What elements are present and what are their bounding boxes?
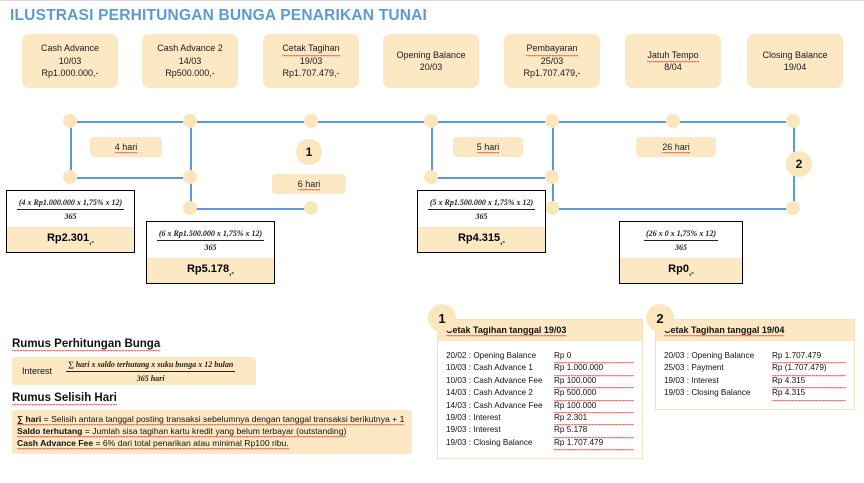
statement-row: 14/03 : Cash Advance 2Rp 500.000 xyxy=(446,387,634,399)
statement-row: 20/02 : Opening BalanceRp 0 xyxy=(446,350,634,362)
calculation-box-1: (4 x Rp1.000.000 x 1,75% x 12) 365 Rp2.3… xyxy=(6,190,135,253)
statement-heading-1: Cetak Tagihan tanggal 19/03 xyxy=(438,320,642,341)
timeline-badge-1: 1 xyxy=(296,139,322,165)
statement-row-value: Rp 100.000 xyxy=(554,375,634,387)
calculation-numerator-4: (26 x 0 x 1,75% x 12) xyxy=(644,228,718,241)
event-card-date-1: 10/03 xyxy=(59,55,82,68)
formula-note-term-3: Cash Advance Fee xyxy=(17,438,93,448)
timeline-dot-c7-top xyxy=(786,114,800,128)
event-card-name-2: Cash Advance 2 xyxy=(157,42,223,55)
statement-row-label: 19/03 : Closing Balance xyxy=(664,387,772,399)
event-card-amount-2: Rp500.000,- xyxy=(165,67,215,80)
calculation-numerator-2: (6 x Rp1.500.000 x 1,75% x 12) xyxy=(157,228,264,241)
statement-row: 19/03 : InterestRp 5.178 xyxy=(446,424,634,436)
calculation-result-value-2: Rp5.178 xyxy=(187,263,229,275)
statement-row: 25/03 : PaymentRp (1.707.479) xyxy=(664,362,846,374)
formula-note-text-1: = Selisih antara tanggal posting transak… xyxy=(41,414,404,424)
duration-pill-3: 5 hari xyxy=(453,137,523,157)
timeline-span-4hari xyxy=(70,177,190,179)
calculation-result-4: Rp0,- xyxy=(620,258,742,283)
statement-row-label: 10/03 : Cash Advance 1 xyxy=(446,362,554,374)
event-card-name-1: Cash Advance xyxy=(41,42,99,55)
formula-note-term-1: ∑ hari xyxy=(17,414,41,424)
calculation-box-2: (6 x Rp1.500.000 x 1,75% x 12) 365 Rp5.1… xyxy=(146,221,275,284)
statement-row-label: 10/03 : Cash Advance Fee xyxy=(446,375,554,387)
duration-pill-label-3: 5 hari xyxy=(477,142,500,152)
statement-row-label: 14/03 : Cash Advance Fee xyxy=(446,400,554,412)
statement-row: 20/03 : Opening BalanceRp 1.707.479 xyxy=(664,350,846,362)
event-card-date-7: 19/04 xyxy=(784,61,807,74)
duration-pill-2: 6 hari xyxy=(272,174,346,194)
event-card-1: Cash Advance10/03Rp1.000.000,- xyxy=(22,34,118,88)
event-card-name-4: Opening Balance xyxy=(396,49,465,62)
statement-row-label: 14/03 : Cash Advance 2 xyxy=(446,387,554,399)
event-card-date-2: 14/03 xyxy=(179,55,202,68)
statement-row: 10/03 : Cash Advance 1Rp 1.000.000 xyxy=(446,362,634,374)
timeline-dot-c6-top xyxy=(666,114,680,128)
timeline-span-26hari xyxy=(552,208,793,210)
timeline-drop-c2 xyxy=(190,121,192,208)
duration-pill-label-4: 26 hari xyxy=(662,142,690,152)
statement-row-value: Rp 4.315 xyxy=(772,387,846,399)
timeline-dot-c7-low xyxy=(786,201,800,215)
event-card-7: Closing Balance19/04 xyxy=(747,34,843,88)
formula-note-term-2: Saldo terhutang xyxy=(17,426,82,436)
timeline-dot-c1-mid xyxy=(63,170,77,184)
days-formula-heading-text: Rumus Selisih Hari xyxy=(12,392,117,404)
formula-note-3: Cash Advance Fee = 6% dari total penarik… xyxy=(17,437,407,449)
statement-row-label: 25/03 : Payment xyxy=(664,362,772,374)
calculation-result-value-4: Rp0 xyxy=(668,263,689,275)
event-card-name-6: Jatuh Tempo xyxy=(647,49,698,62)
timeline-span-6hari xyxy=(190,208,311,210)
event-card-name-3: Cetak Tagihan xyxy=(282,42,339,55)
event-card-amount-5: Rp1.707.479,- xyxy=(523,67,580,80)
timeline-dot-c4-mid xyxy=(424,170,438,184)
calculation-fraction-1: (4 x Rp1.000.000 x 1,75% x 12) 365 xyxy=(7,191,134,227)
statement-badge-1: 1 xyxy=(428,304,456,332)
timeline-dot-c5-top xyxy=(545,114,559,128)
timeline-badge-2: 2 xyxy=(786,151,812,177)
statement-row-value: Rp 0 xyxy=(554,350,634,362)
statement-row-value: Rp 1.000.000 xyxy=(554,362,634,374)
duration-pill-1: 4 hari xyxy=(90,137,162,157)
timeline-dot-c5-mid xyxy=(545,170,559,184)
event-card-2: Cash Advance 214/03Rp500.000,- xyxy=(142,34,238,88)
timeline-dot-c2-mid xyxy=(183,170,197,184)
calculation-fraction-2: (6 x Rp1.500.000 x 1,75% x 12) 365 xyxy=(147,222,274,258)
event-card-5: Pembayaran25/03Rp1.707.479,- xyxy=(504,34,600,88)
timeline-drop-c4 xyxy=(431,121,433,177)
calculation-result-suffix-1: ,- xyxy=(89,237,94,246)
timeline-span-5hari xyxy=(431,177,552,179)
calculation-box-4: (26 x 0 x 1,75% x 12) 365 Rp0,- xyxy=(619,221,743,284)
timeline-drop-c5 xyxy=(552,121,554,208)
interest-formula-heading-text: Rumus Perhitungan Bunga xyxy=(12,338,160,350)
timeline-dot-c3-low xyxy=(304,201,318,215)
statement-row: 19/03 : Closing BalanceRp 4.315 xyxy=(664,387,846,399)
statement-heading-2: Cetak Tagihan tanggal 19/04 xyxy=(656,320,854,341)
formula-note-text-2: = Jumlah sisa tagihan kartu kredit yang … xyxy=(82,426,346,436)
timeline-drop-c1 xyxy=(70,121,72,177)
statement-row-value: Rp (1.707.479) xyxy=(772,362,846,374)
formula-note-2: Saldo terhutang = Jumlah sisa tagihan ka… xyxy=(17,425,407,437)
duration-pill-label-1: 4 hari xyxy=(115,142,138,152)
interest-numerator: ∑ hari x saldo terhutang x suku bunga x … xyxy=(66,359,235,372)
statement-heading-text-2: Cetak Tagihan tanggal 19/04 xyxy=(664,325,784,335)
statement-row-label: 19/03 : Closing Balance xyxy=(446,437,554,449)
event-card-name-5: Pembayaran xyxy=(526,42,577,55)
calculation-result-suffix-2: ,- xyxy=(229,268,234,277)
event-card-4: Opening Balance20/03 xyxy=(383,34,479,88)
statement-row-value: Rp 1.707.479 xyxy=(772,350,846,362)
calculation-box-3: (5 x Rp1.500.000 x 1,75% x 12) 365 Rp4.3… xyxy=(417,190,546,253)
interest-label: Interest xyxy=(22,366,52,376)
calculation-result-value-1: Rp2.301 xyxy=(47,232,89,244)
timeline-dot-c2-top xyxy=(183,114,197,128)
event-card-date-4: 20/03 xyxy=(420,61,443,74)
duration-pill-4: 26 hari xyxy=(636,137,716,157)
slide-canvas: ILUSTRASI PERHITUNGAN BUNGA PENARIKAN TU… xyxy=(0,0,864,483)
formula-note-1: ∑ hari = Selisih antara tanggal posting … xyxy=(17,413,407,425)
event-card-amount-1: Rp1.000.000,- xyxy=(41,67,98,80)
statement-row-value: Rp 500.000 xyxy=(554,387,634,399)
event-card-name-7: Closing Balance xyxy=(762,49,827,62)
formula-notes-band: ∑ hari = Selisih antara tanggal posting … xyxy=(12,410,412,454)
timeline-dot-c2-low xyxy=(183,201,197,215)
statement-row: 19/03 : InterestRp 4.315 xyxy=(664,375,846,387)
statement-row: 19/03 : InterestRp 2.301 xyxy=(446,412,634,424)
statement-row: 19/03 : Closing BalanceRp 1.707.479 xyxy=(446,437,634,449)
interest-formula-heading: Rumus Perhitungan Bunga xyxy=(12,338,160,350)
calculation-denominator-2: 365 xyxy=(152,242,269,253)
statement-row-value: Rp 4.315 xyxy=(772,375,846,387)
calculation-denominator-1: 365 xyxy=(12,211,129,222)
statement-heading-text-1: Cetak Tagihan tanggal 19/03 xyxy=(446,325,566,335)
calculation-result-2: Rp5.178,- xyxy=(147,258,274,283)
timeline-dot-c3-top xyxy=(304,114,318,128)
calculation-result-3: Rp4.315,- xyxy=(418,227,545,252)
calculation-result-suffix-4: ,- xyxy=(689,268,694,277)
statement-row: 14/03 : Cash Advance FeeRp 100.000 xyxy=(446,400,634,412)
event-card-3: Cetak Tagihan19/03Rp1.707.479,- xyxy=(263,34,359,88)
timeline-dot-c5-low xyxy=(545,201,559,215)
statement-row: 10/03 : Cash Advance FeeRp 100.000 xyxy=(446,375,634,387)
statement-row-label: 19/03 : Interest xyxy=(446,424,554,436)
statement-box-2: Cetak Tagihan tanggal 19/0420/03 : Openi… xyxy=(655,319,855,410)
interest-fraction: ∑ hari x saldo terhutang x suku bunga x … xyxy=(66,359,235,384)
statement-row-label: 20/02 : Opening Balance xyxy=(446,350,554,362)
statement-rows-1: 20/02 : Opening BalanceRp 010/03 : Cash … xyxy=(438,341,642,458)
statement-row-value: Rp 100.000 xyxy=(554,400,634,412)
statement-row-label: 20/03 : Opening Balance xyxy=(664,350,772,362)
statement-row-value: Rp 5.178 xyxy=(554,424,634,436)
duration-pill-label-2: 6 hari xyxy=(298,179,321,189)
days-formula-heading: Rumus Selisih Hari xyxy=(12,392,117,404)
calculation-numerator-1: (4 x Rp1.000.000 x 1,75% x 12) xyxy=(17,197,124,210)
calculation-denominator-4: 365 xyxy=(625,242,737,253)
timeline-dot-c1-top xyxy=(63,114,77,128)
calculation-numerator-3: (5 x Rp1.500.000 x 1,75% x 12) xyxy=(428,197,535,210)
interest-denominator: 365 hari xyxy=(66,373,235,384)
event-card-amount-3: Rp1.707.479,- xyxy=(282,67,339,80)
calculation-result-value-3: Rp4.315 xyxy=(458,232,500,244)
calculation-denominator-3: 365 xyxy=(423,211,540,222)
statement-row-label: 19/03 : Interest xyxy=(446,412,554,424)
timeline-dot-c4-top xyxy=(424,114,438,128)
statement-badge-2: 2 xyxy=(646,304,674,332)
statement-row-value: Rp 2.301 xyxy=(554,412,634,424)
statement-rows-2: 20/03 : Opening BalanceRp 1.707.47925/03… xyxy=(656,341,854,409)
calculation-result-suffix-3: ,- xyxy=(500,237,505,246)
statement-row-value: Rp 1.707.479 xyxy=(554,437,634,449)
calculation-fraction-4: (26 x 0 x 1,75% x 12) 365 xyxy=(620,222,742,258)
statement-box-1: Cetak Tagihan tanggal 19/0320/02 : Openi… xyxy=(437,319,643,459)
formula-note-text-3: = 6% dari total penarikan atau minimal R… xyxy=(93,438,289,448)
interest-formula-band: Interest ∑ hari x saldo terhutang x suku… xyxy=(12,357,256,385)
calculation-fraction-3: (5 x Rp1.500.000 x 1,75% x 12) 365 xyxy=(418,191,545,227)
statement-row-label: 19/03 : Interest xyxy=(664,375,772,387)
calculation-result-1: Rp2.301,- xyxy=(7,227,134,252)
event-card-6: Jatuh Tempo8/04 xyxy=(625,34,721,88)
page-title: ILUSTRASI PERHITUNGAN BUNGA PENARIKAN TU… xyxy=(10,7,427,25)
